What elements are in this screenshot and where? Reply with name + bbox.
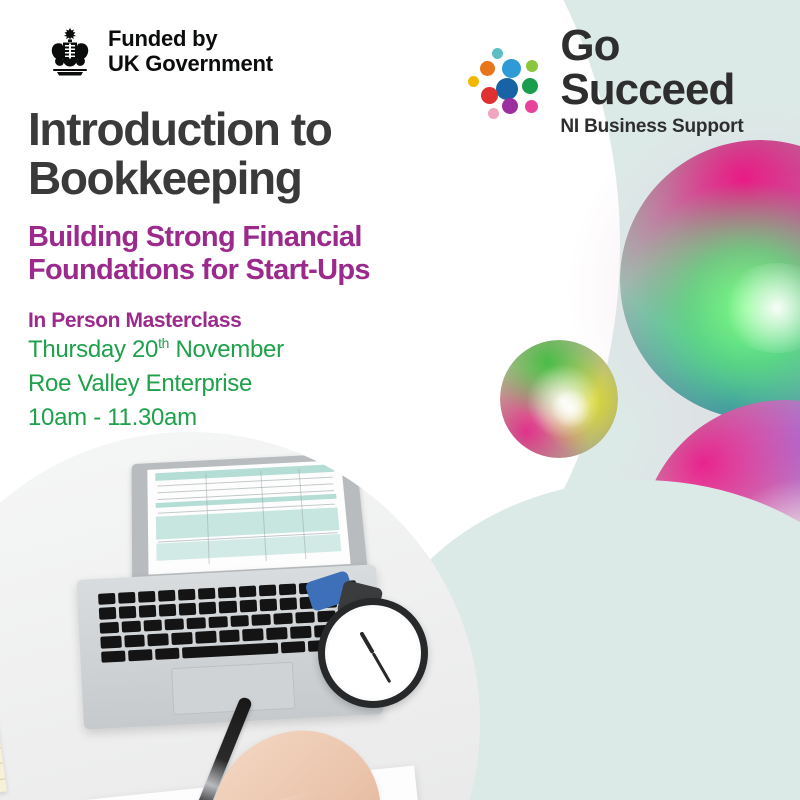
go-succeed-logo: Go Succeed NI Business Support bbox=[466, 24, 800, 138]
subheadline-line-2: Foundations for Start-Ups bbox=[28, 254, 370, 286]
uk-royal-coat-of-arms-crest bbox=[45, 26, 95, 78]
poster-canvas: 1040 bbox=[0, 0, 800, 800]
poster-text-block: Introduction to Bookkeeping Building Str… bbox=[28, 105, 498, 435]
funder-line-2: UK Government bbox=[108, 52, 273, 77]
event-date: Thursday 20th November bbox=[28, 333, 498, 367]
event-date-prefix: Thursday 20 bbox=[28, 336, 158, 363]
event-format: In Person Masterclass bbox=[28, 309, 498, 333]
event-venue: Roe Valley Enterprise bbox=[28, 367, 498, 401]
headline-line-2: Bookkeeping bbox=[28, 152, 301, 204]
laptop-trackpad bbox=[171, 662, 295, 715]
decorative-sphere-small-middle bbox=[500, 340, 618, 458]
tax-form-on-screen bbox=[147, 460, 350, 574]
laptop-screen bbox=[132, 453, 368, 583]
page-subtitle: Building Strong Financial Foundations fo… bbox=[28, 221, 498, 288]
event-time: 10am - 11.30am bbox=[28, 401, 498, 435]
alarm-clock bbox=[318, 598, 428, 708]
event-date-suffix: November bbox=[169, 336, 284, 363]
headline-line-1: Introduction to bbox=[28, 103, 331, 155]
page-title: Introduction to Bookkeeping bbox=[28, 105, 498, 203]
funder-line-1: Funded by bbox=[108, 27, 273, 52]
brand-title: Go Succeed bbox=[560, 24, 800, 112]
bookkeeping-desk-photo: 1040 bbox=[0, 432, 480, 800]
brand-tagline: NI Business Support bbox=[560, 116, 800, 138]
event-date-ordinal: th bbox=[158, 335, 169, 351]
subheadline-line-1: Building Strong Financial bbox=[28, 221, 362, 253]
funded-by-uk-government-logo: Funded by UK Government bbox=[45, 26, 273, 78]
